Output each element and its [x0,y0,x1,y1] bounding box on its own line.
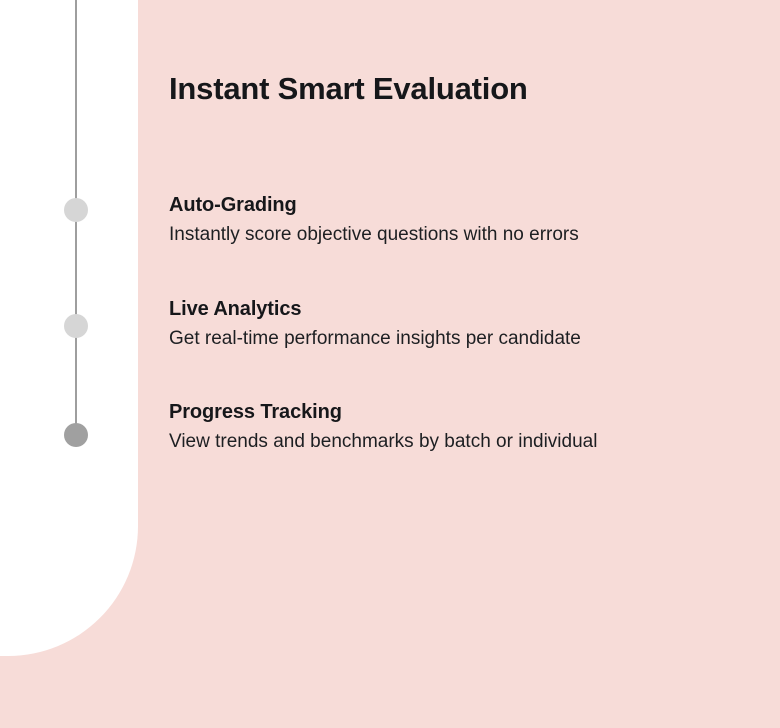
feature-list: Auto-Grading Instantly score objective q… [169,193,749,455]
feature-description: View trends and benchmarks by batch or i… [169,430,749,455]
feature-title: Auto-Grading [169,193,749,218]
slide-root: Instant Smart Evaluation Auto-Grading In… [0,0,780,728]
list-item: Auto-Grading Instantly score objective q… [169,193,749,248]
timeline-dot-2 [64,314,88,338]
feature-title: Live Analytics [169,297,749,322]
timeline-dot-3 [64,423,88,447]
list-item: Progress Tracking View trends and benchm… [169,400,749,455]
feature-description: Get real-time performance insights per c… [169,327,749,352]
timeline-dot-1 [64,198,88,222]
feature-title: Progress Tracking [169,400,749,425]
page-title: Instant Smart Evaluation [169,70,528,107]
content-column: Instant Smart Evaluation Auto-Grading In… [169,0,749,728]
feature-description: Instantly score objective questions with… [169,223,749,248]
list-item: Live Analytics Get real-time performance… [169,297,749,352]
